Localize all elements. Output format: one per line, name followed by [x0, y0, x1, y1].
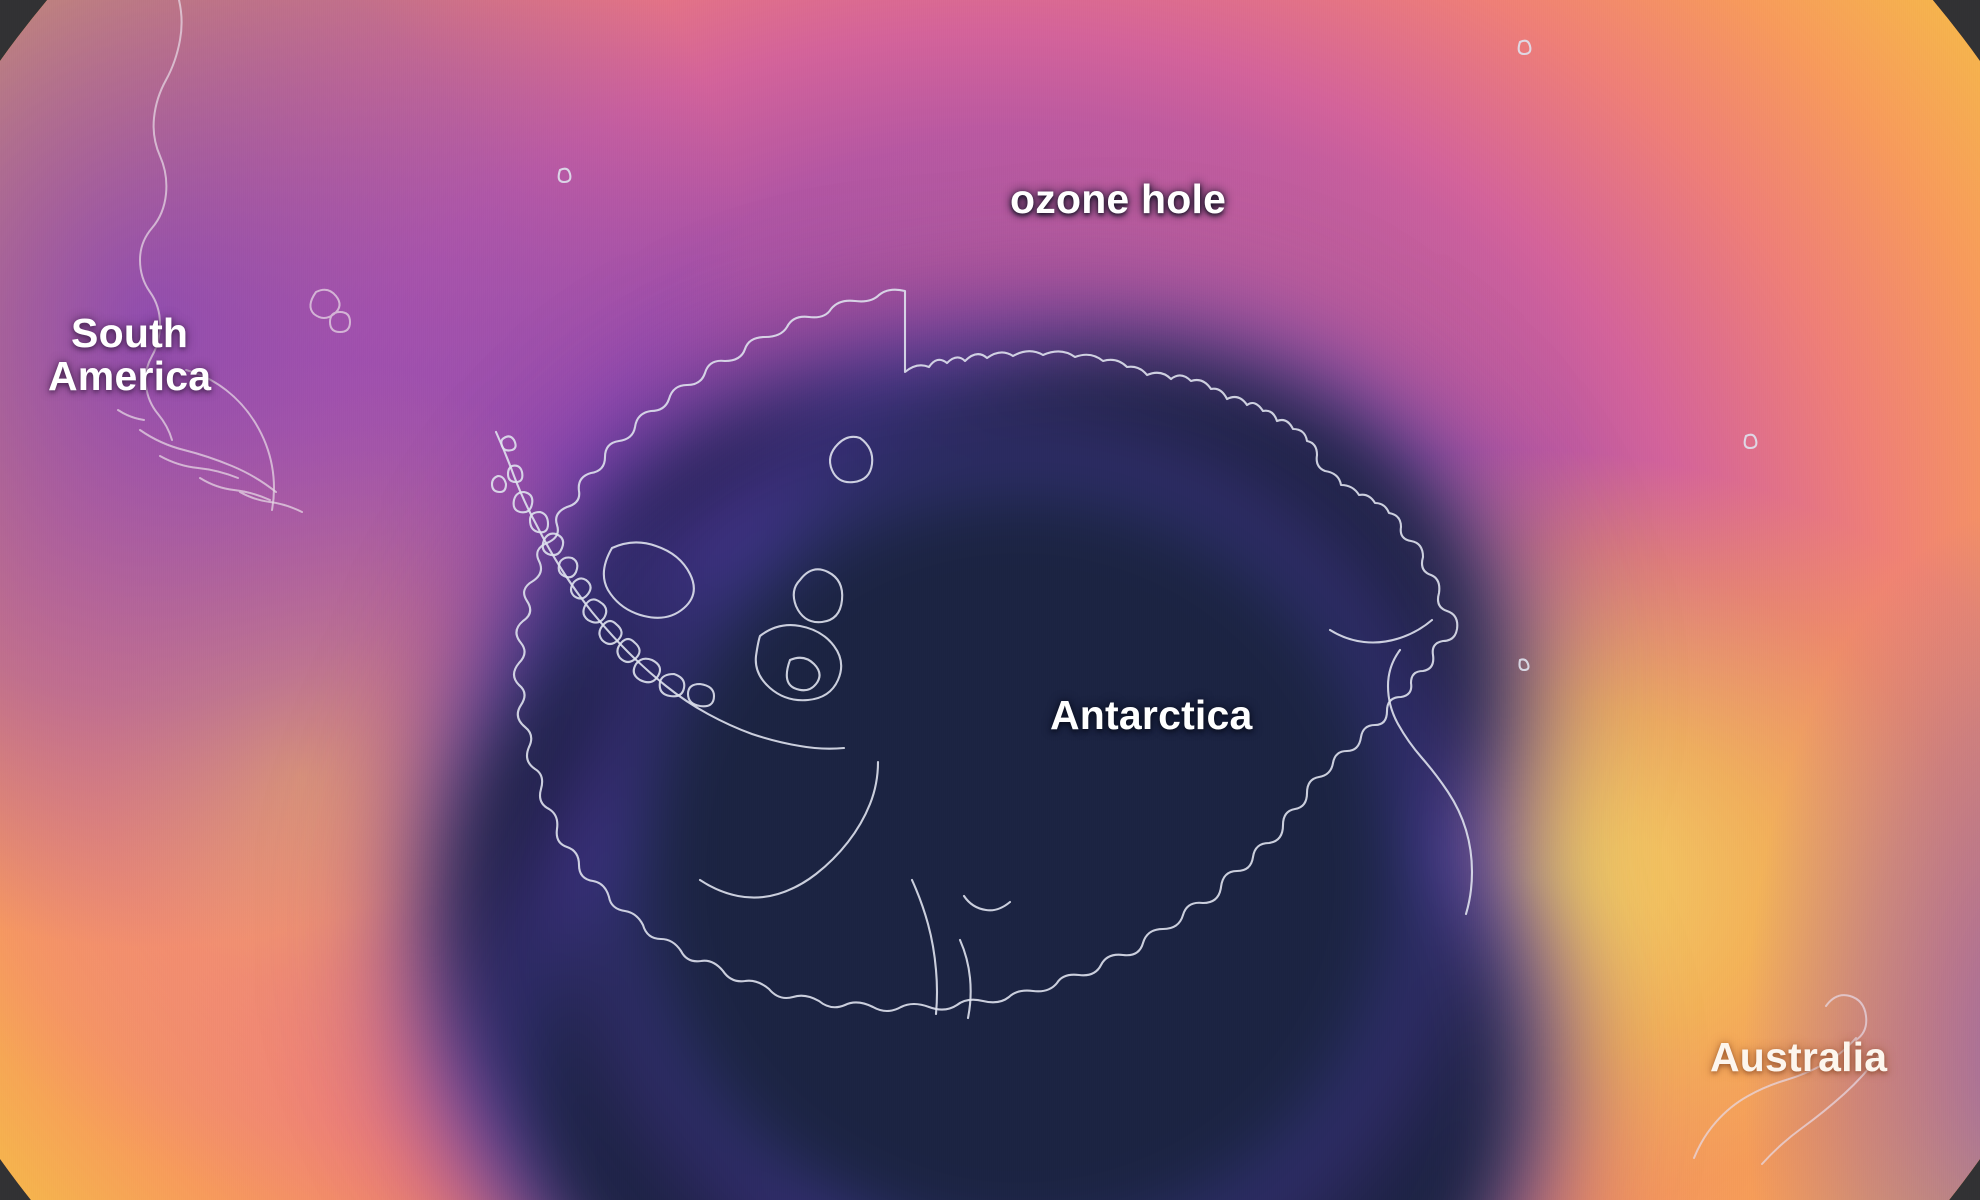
island-specks: [559, 41, 1757, 670]
coastline-svg: [0, 0, 1980, 1200]
west-antarctic-inlet: [830, 437, 872, 482]
bottom-peninsula-coast: [912, 880, 1010, 1018]
interior-island: [794, 569, 842, 622]
coastline-overlay: [0, 0, 1980, 1200]
antarctica-coastline: [514, 290, 1457, 1011]
south-america-coastline: [140, 0, 182, 440]
ross-ice-shelf-outline: [756, 625, 841, 700]
east-antarctic-coast: [1330, 620, 1472, 914]
ozone-hole-map: ozone hole South America Antarctica Aust…: [0, 0, 1980, 1200]
weddell-sea-inlet: [604, 542, 694, 617]
peninsula-spine: [496, 432, 844, 749]
new-zealand-coastline: [1694, 995, 1866, 1158]
australia-south-coast: [1762, 1054, 1880, 1164]
south-coast-detail: [700, 762, 878, 898]
falkland-islands: [310, 290, 350, 332]
